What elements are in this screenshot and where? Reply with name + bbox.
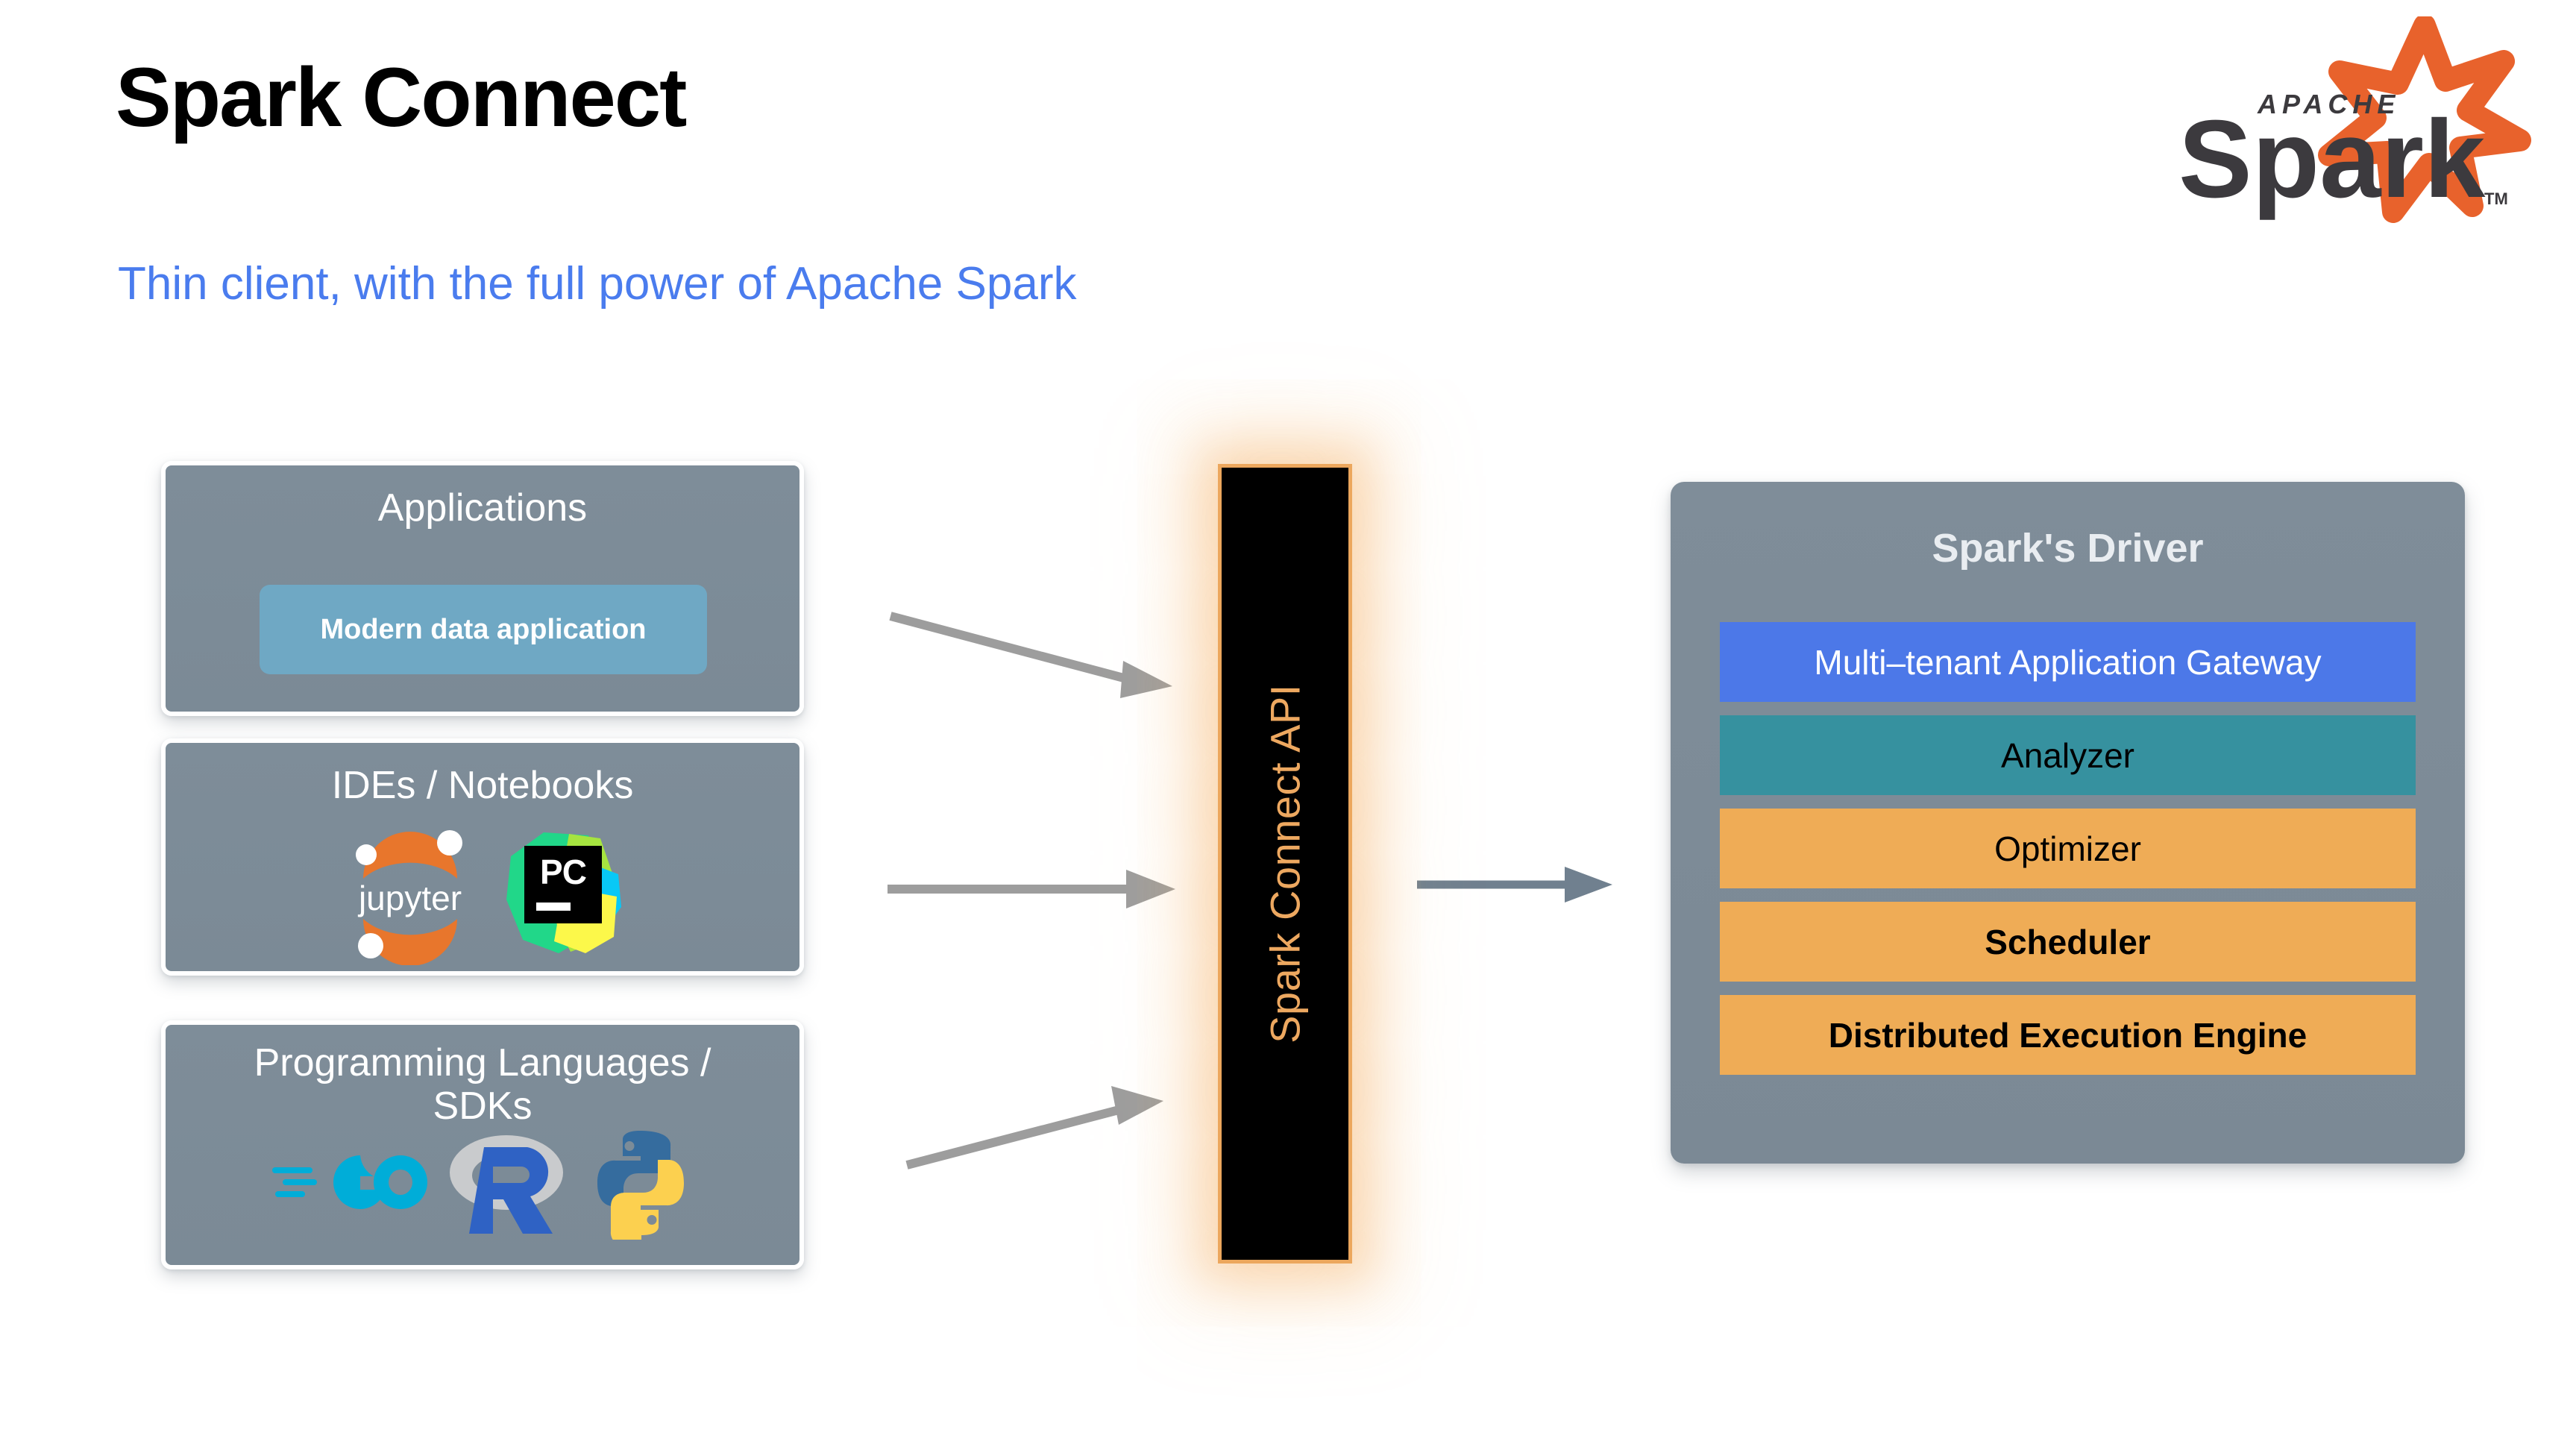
driver-layer-analyzer[interactable]: Analyzer — [1720, 715, 2416, 795]
arrow-languages-to-api — [888, 1059, 1201, 1193]
pycharm-black-square: PC — [524, 846, 602, 923]
r-icon — [445, 1123, 572, 1243]
client-box-title-languages: Programming Languages / SDKs — [166, 1025, 799, 1128]
page-title: Spark Connect — [116, 56, 685, 139]
client-box-ides-notebooks: IDEs / Notebooks jupyter — [161, 738, 804, 976]
go-icon — [272, 1142, 429, 1224]
ide-icon-row: jupyter PC — [166, 819, 799, 965]
spark-connect-api-bar[interactable]: Spark Connect API — [1218, 464, 1352, 1264]
pycharm-icon: PC — [505, 828, 624, 956]
client-box-applications: Applications Modern data application — [161, 461, 804, 716]
python-icon — [588, 1126, 693, 1240]
spark-driver-title: Spark's Driver — [1671, 482, 2465, 568]
arrow-applications-to-api — [888, 612, 1201, 716]
jupyter-icon: jupyter — [341, 819, 480, 965]
client-box-title-ides: IDEs / Notebooks — [166, 743, 799, 807]
spark-driver-layer-list: Multi–tenant Application Gateway Analyze… — [1720, 622, 2416, 1075]
driver-layer-gateway[interactable]: Multi–tenant Application Gateway — [1720, 622, 2416, 702]
spark-driver-panel: Spark's Driver Multi–tenant Application … — [1671, 482, 2465, 1164]
driver-layer-scheduler[interactable]: Scheduler — [1720, 902, 2416, 982]
logo-trademark: TM — [2484, 189, 2508, 208]
logo-spark-text: Spark — [2178, 98, 2486, 221]
arrow-api-to-driver — [1417, 850, 1656, 917]
client-box-title-applications: Applications — [166, 465, 799, 530]
pycharm-pc-text: PC — [524, 852, 602, 892]
driver-layer-distributed-execution-engine[interactable]: Distributed Execution Engine — [1720, 995, 2416, 1075]
apache-spark-logo: APACHE Spark TM — [2147, 16, 2535, 233]
modern-data-application-pill[interactable]: Modern data application — [260, 585, 707, 674]
client-box-programming-languages: Programming Languages / SDKs — [161, 1020, 804, 1269]
pycharm-underscore-glyph — [536, 903, 571, 911]
arrow-ides-to-api — [888, 858, 1201, 917]
spark-connect-api-label: Spark Connect API — [1261, 684, 1310, 1043]
language-icon-row — [166, 1123, 799, 1243]
jupyter-wordmark: jupyter — [357, 879, 462, 917]
driver-layer-optimizer[interactable]: Optimizer — [1720, 809, 2416, 888]
page-subtitle: Thin client, with the full power of Apac… — [118, 261, 1076, 307]
